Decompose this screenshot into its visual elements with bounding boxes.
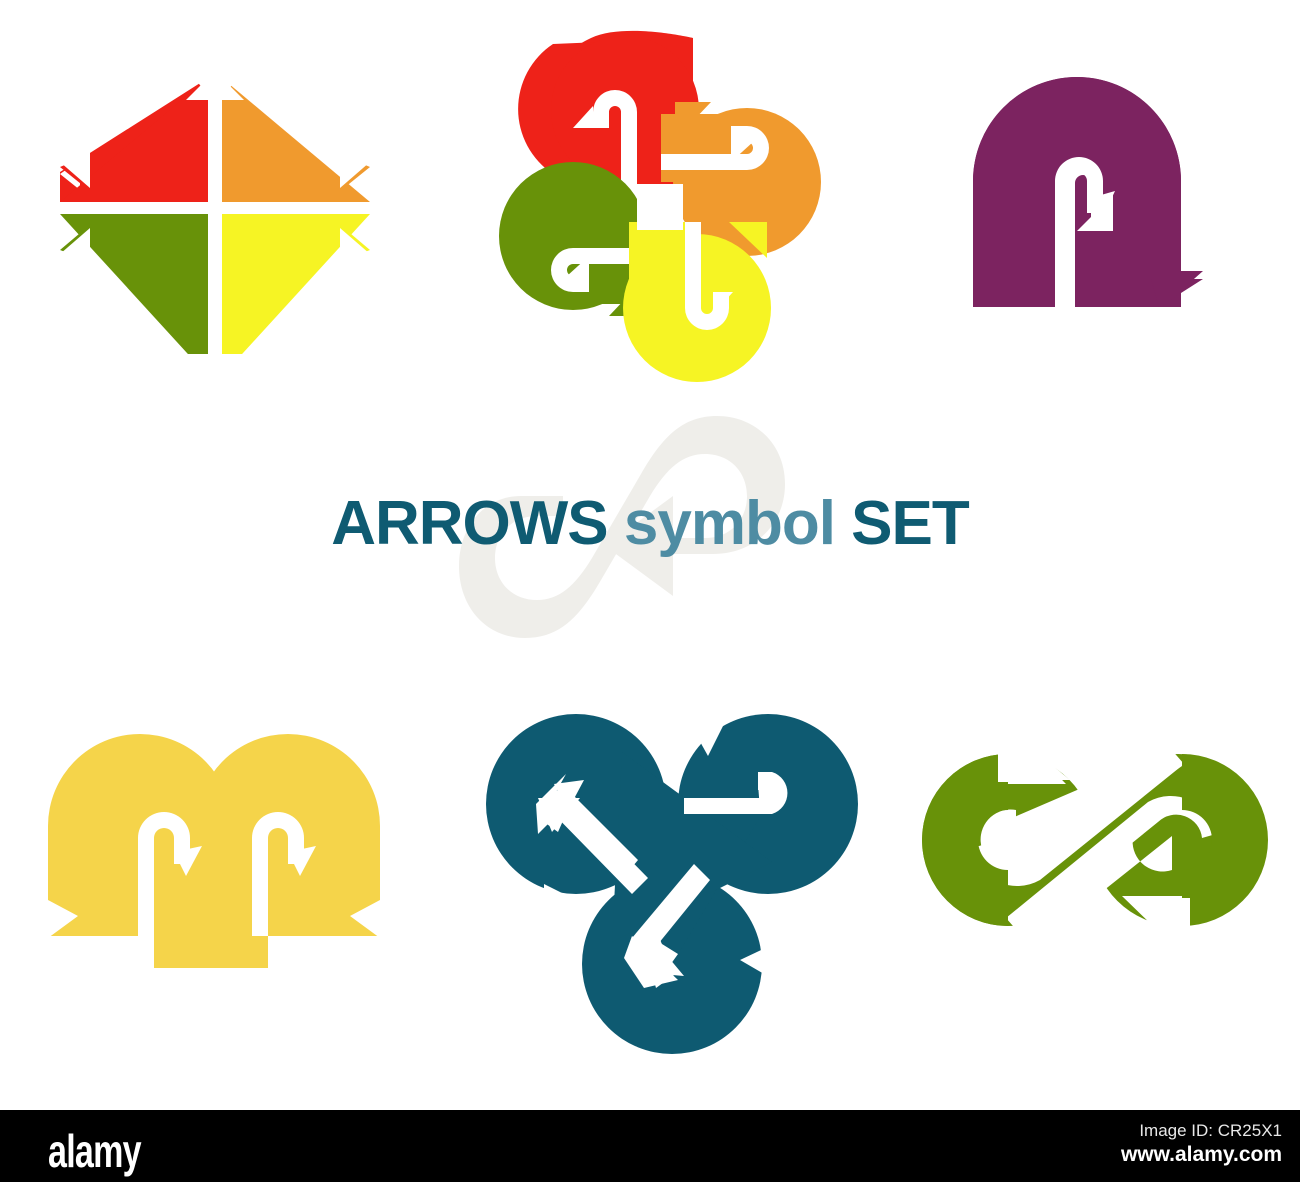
artwork-canvas: ARROWS symbol SET xyxy=(0,0,1300,1110)
quad-diamond-svg xyxy=(46,62,386,392)
s-double-body xyxy=(922,718,1268,962)
quadrant-orange xyxy=(222,78,370,202)
arch-body xyxy=(973,77,1203,311)
title-part-secondary: symbol xyxy=(624,489,835,558)
screenshot-root: ARROWS symbol SET alamy Image ID: CR25X1… xyxy=(0,0,1300,1182)
icon-s-curve-double-arrow xyxy=(920,710,1270,970)
title-part-primary: ARROWS xyxy=(331,489,624,558)
arch-hook-svg xyxy=(955,55,1235,345)
alamy-logo: alamy xyxy=(48,1124,141,1178)
title-part-tail: SET xyxy=(835,489,969,558)
alamy-url[interactable]: www.alamy.com xyxy=(1121,1142,1282,1168)
icon-four-hook-pinwheel-arrows xyxy=(485,24,835,394)
triskelion-body xyxy=(486,714,858,1054)
image-id-label: Image ID: CR25X1 xyxy=(1121,1120,1282,1142)
artwork-title: ARROWS symbol SET xyxy=(331,488,969,559)
footer-meta: Image ID: CR25X1 www.alamy.com xyxy=(1121,1120,1282,1168)
double-lobe-body xyxy=(30,734,400,1000)
double-lobe-svg xyxy=(30,700,400,1000)
icon-triskelion-hook-arrows xyxy=(472,692,872,1062)
icon-four-quadrant-diamond-arrows xyxy=(46,62,386,392)
pinwheel-svg xyxy=(485,24,835,394)
artwork-title-wrap: ARROWS symbol SET xyxy=(0,488,1300,559)
icon-double-lobe-hook-arrows xyxy=(30,700,400,1000)
s-double-svg xyxy=(920,710,1270,970)
alamy-footer-bar: alamy Image ID: CR25X1 www.alamy.com xyxy=(0,1110,1300,1182)
triskelion-svg xyxy=(472,692,872,1062)
icon-arch-hook-arrow xyxy=(955,55,1235,345)
